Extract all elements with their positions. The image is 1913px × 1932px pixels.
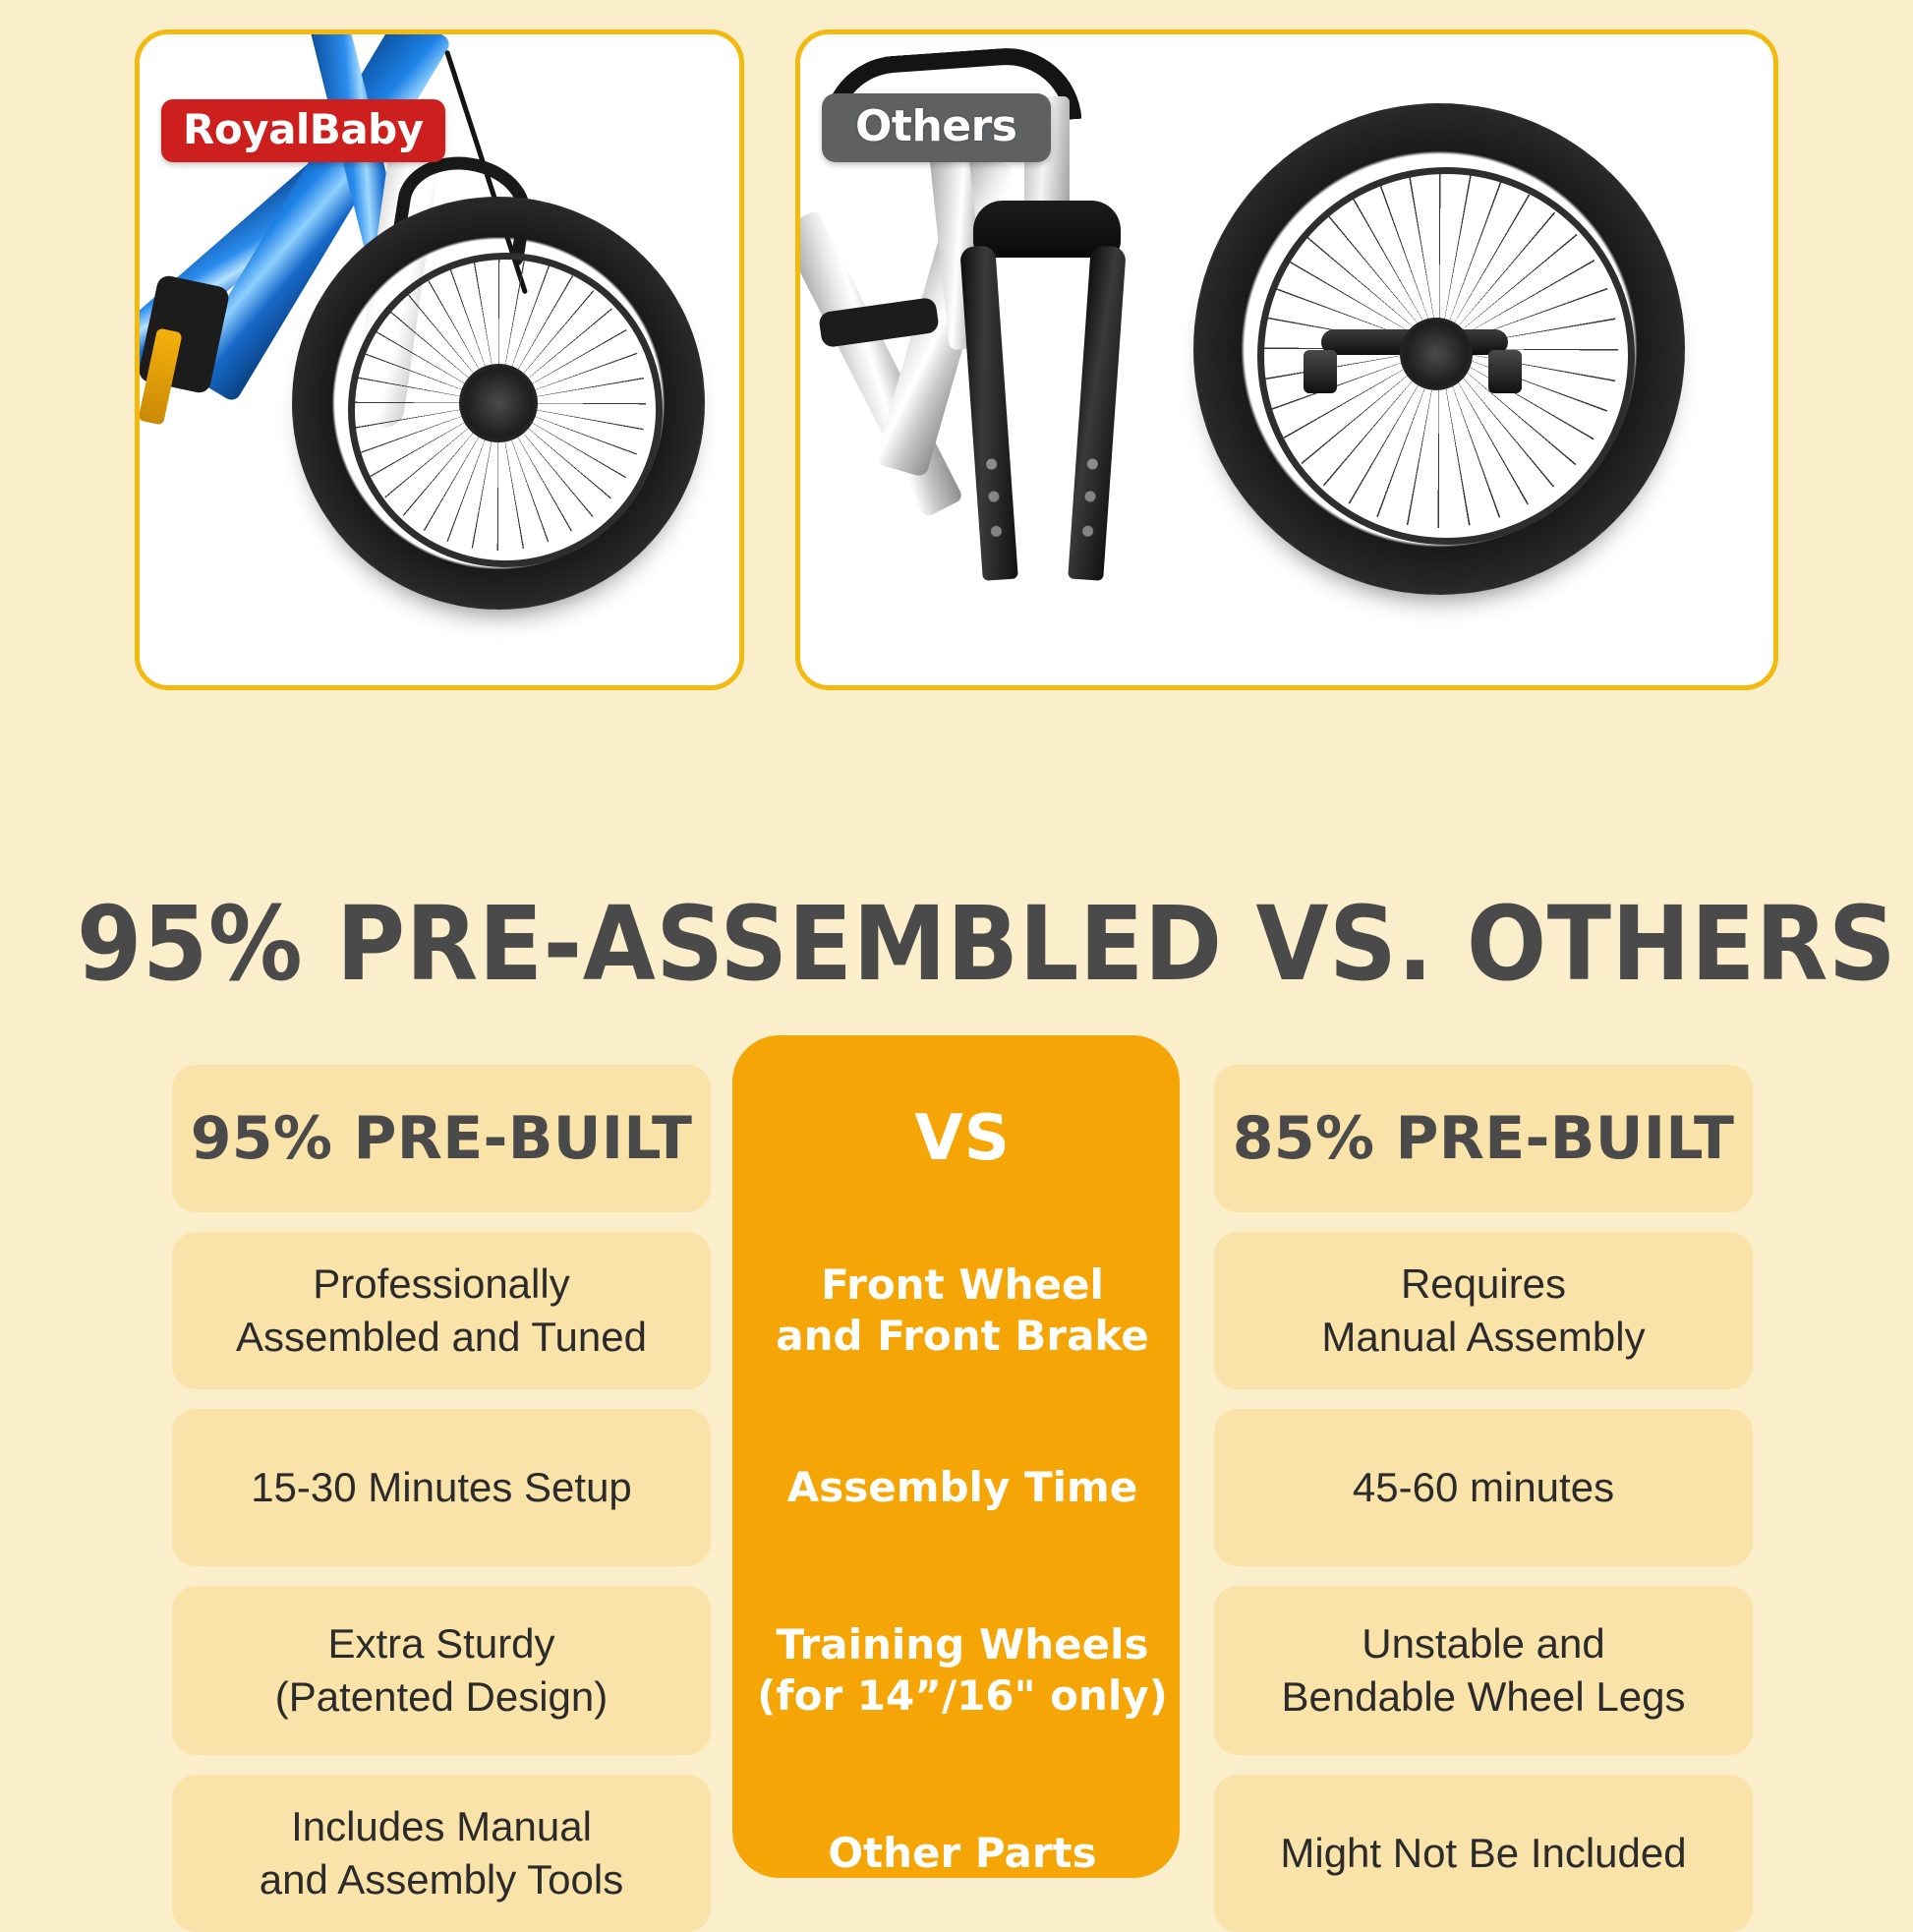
table-header-row: 95% PRE-BUILT VS 85% PRE-BUILT [0,1065,1913,1212]
others-label-badge: Others [822,93,1051,162]
column-gap-left [711,1586,739,1755]
row-1-cell-royalbaby: Professionally Assembled and Tuned [172,1232,711,1389]
axle-nut-left [1304,350,1337,393]
photo-panel-royalbaby: RoyalBaby [135,29,744,690]
row-1-right-line1: Requires [1321,1258,1645,1311]
right-gutter [1753,1065,1913,1212]
column-gap-left [711,1775,739,1932]
right-gutter [1753,1409,1913,1566]
column-gap-right [1187,1232,1215,1389]
header-cell-royalbaby: 95% PRE-BUILT [172,1065,711,1212]
detached-wheel-hub [1400,318,1473,390]
row-2-cell-feature: Assembly Time [739,1409,1187,1566]
infographic-page: RoyalBaby [0,0,1913,1913]
row-2-cell-others: 45-60 minutes [1214,1409,1753,1566]
row-1-left-line1: Professionally [236,1258,647,1311]
right-gutter [1753,1232,1913,1389]
row-3-cell-others: Unstable and Bendable Wheel Legs [1214,1586,1753,1755]
photo-panel-others: Others [795,29,1778,690]
left-gutter [0,1065,172,1212]
row-4-cell-feature: Other Parts [739,1775,1187,1932]
left-gutter [0,1775,172,1932]
axle-nut-right [1488,350,1522,393]
column-gap-left [711,1232,739,1389]
row-3-right-line1: Unstable and [1282,1617,1686,1670]
row-4-right-line1: Might Not Be Included [1280,1827,1686,1880]
left-gutter [0,1232,172,1389]
row-1-mid-line1: Front Wheel [776,1259,1148,1312]
row-1-mid-line2: and Front Brake [776,1311,1148,1363]
row-4-left-line2: and Assembly Tools [260,1853,623,1906]
right-gutter [1753,1586,1913,1755]
table-row: 15-30 Minutes Setup Assembly Time 45-60 … [0,1409,1913,1566]
column-gap-right [1187,1409,1215,1566]
row-4-mid-line1: Other Parts [828,1828,1096,1880]
row-4-cell-others: Might Not Be Included [1214,1775,1753,1932]
column-gap-left [711,1409,739,1566]
row-3-cell-feature: Training Wheels (for 14”/16" only) [739,1586,1187,1755]
detached-front-fork [965,206,1132,629]
header-cell-others: 85% PRE-BUILT [1214,1065,1753,1212]
row-4-cell-royalbaby: Includes Manual and Assembly Tools [172,1775,711,1932]
table-row: Professionally Assembled and Tuned Front… [0,1232,1913,1389]
left-gutter [0,1586,172,1755]
fork-leg-left [959,245,1018,581]
row-3-left-line2: (Patented Design) [275,1670,609,1724]
column-gap-right [1187,1065,1215,1212]
fork-leg-right [1068,245,1127,581]
table-row: Extra Sturdy (Patented Design) Training … [0,1586,1913,1755]
column-gap-right [1187,1586,1215,1755]
column-gap-right [1187,1775,1215,1932]
row-1-right-line2: Manual Assembly [1321,1311,1645,1364]
row-3-mid-line2: (for 14”/16" only) [757,1670,1168,1723]
row-2-mid-line1: Assembly Time [787,1462,1138,1514]
row-3-cell-royalbaby: Extra Sturdy (Patented Design) [172,1586,711,1755]
page-title: 95% PRE-ASSEMBLED VS. OTHERS [77,893,1836,995]
row-2-right-line1: 45-60 minutes [1353,1461,1614,1514]
row-3-left-line1: Extra Sturdy [275,1617,609,1670]
row-3-mid-line1: Training Wheels [757,1619,1168,1671]
others-label-text: Others [855,105,1017,148]
royalbaby-logo-text: RoyalBaby [183,109,424,150]
row-1-left-line2: Assembled and Tuned [236,1311,647,1364]
wheel-hub [459,364,538,442]
table-row: Includes Manual and Assembly Tools Other… [0,1775,1913,1932]
column-gap-left [711,1065,739,1212]
row-4-left-line1: Includes Manual [260,1800,623,1853]
row-1-cell-feature: Front Wheel and Front Brake [739,1232,1187,1389]
row-2-left-line1: 15-30 Minutes Setup [251,1461,632,1514]
royalbaby-logo-badge: RoyalBaby [161,99,445,162]
row-2-cell-royalbaby: 15-30 Minutes Setup [172,1409,711,1566]
right-gutter [1753,1775,1913,1932]
photo-comparison-row: RoyalBaby [135,29,1778,690]
row-3-right-line2: Bendable Wheel Legs [1282,1670,1686,1724]
left-gutter [0,1409,172,1566]
header-cell-vs: VS [739,1065,1187,1212]
comparison-table: 95% PRE-BUILT VS 85% PRE-BUILT Professio… [0,1035,1913,1891]
row-1-cell-others: Requires Manual Assembly [1214,1232,1753,1389]
comparison-rows: 95% PRE-BUILT VS 85% PRE-BUILT Professio… [0,1035,1913,1932]
